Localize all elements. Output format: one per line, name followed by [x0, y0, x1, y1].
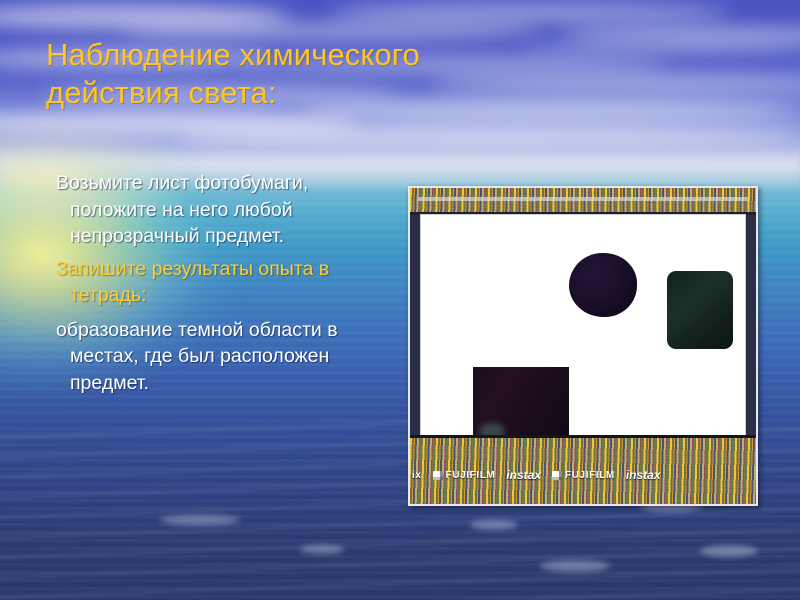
shadow-shape-rectangle [473, 367, 569, 443]
brand-fujifilm-1: FUJIFILM [433, 470, 496, 481]
slide-body: Возьмите лист фотобумаги, положите на не… [56, 170, 386, 402]
brand-label-ix: ix [412, 470, 422, 481]
fujifilm-logo-icon [552, 471, 562, 480]
cloud-streak [330, 2, 730, 24]
cloud-streak [0, 112, 360, 134]
fujifilm-logo-icon [433, 471, 443, 480]
film-strip-top [410, 188, 756, 215]
cloud-streak [0, 4, 290, 30]
body-paragraph-1: Возьмите лист фотобумаги, положите на не… [56, 170, 386, 250]
photo-image: ix FUJIFILM instax FUJIFILM instax [408, 186, 758, 506]
brand-label-instax: instax [506, 468, 541, 482]
film-strip-bottom: ix FUJIFILM instax FUJIFILM instax [410, 435, 756, 504]
brand-fujifilm-2: FUJIFILM [552, 470, 615, 481]
cloud-streak [180, 126, 800, 146]
shadow-shape-rounded-rectangle [667, 271, 733, 349]
body-paragraph-3: образование темной области в местах, где… [56, 317, 386, 397]
brand-label-instax: instax [626, 468, 661, 482]
slide-title: Наблюдение химического действия света: [46, 36, 646, 112]
shadow-shape-circle [569, 253, 637, 317]
film-branding-row: ix FUJIFILM instax FUJIFILM instax [410, 468, 756, 482]
presentation-slide: Наблюдение химического действия света: В… [0, 0, 800, 600]
photographic-paper [420, 214, 746, 438]
brand-label-fujifilm: FUJIFILM [565, 470, 615, 481]
brand-label-fujifilm: FUJIFILM [446, 470, 496, 481]
body-paragraph-2: Запишите результаты опыта в тетрадь: [56, 256, 386, 309]
